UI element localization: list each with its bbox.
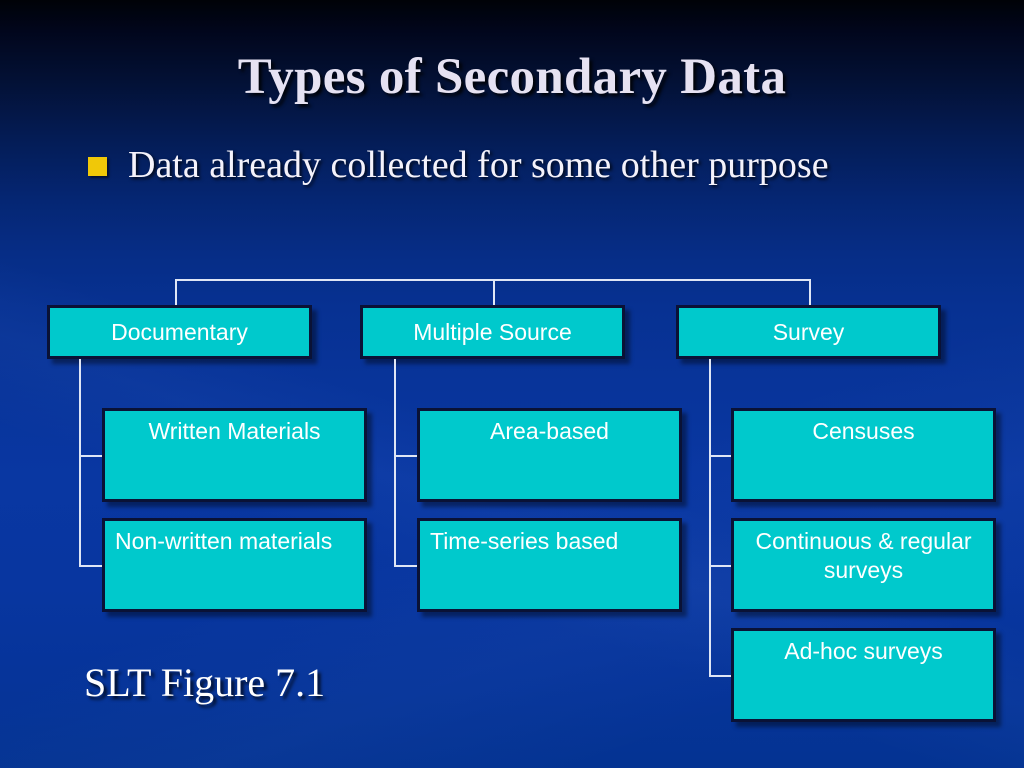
connector-stub-written-materials xyxy=(79,455,103,457)
connector-stub-time-series-based xyxy=(394,565,418,567)
node-continuous-regular-surveys-label: Continuous & regular surveys xyxy=(734,521,993,584)
connector-stub-area-based xyxy=(394,455,418,457)
connector-trunk-documentary xyxy=(79,359,81,567)
figure-caption: SLT Figure 7.1 xyxy=(84,659,325,706)
node-censuses-label: Censuses xyxy=(734,411,993,446)
hierarchy-diagram: Documentary Multiple Source Survey Writt… xyxy=(0,0,1024,768)
node-area-based[interactable]: Area-based xyxy=(417,408,682,502)
node-multiple-source[interactable]: Multiple Source xyxy=(360,305,625,359)
node-continuous-regular-surveys[interactable]: Continuous & regular surveys xyxy=(731,518,996,612)
node-survey[interactable]: Survey xyxy=(676,305,941,359)
node-documentary[interactable]: Documentary xyxy=(47,305,312,359)
connector-trunk-survey xyxy=(709,359,711,677)
node-ad-hoc-surveys-label: Ad-hoc surveys xyxy=(734,631,993,666)
connector-stub-censuses xyxy=(709,455,733,457)
node-time-series-based-label: Time-series based xyxy=(420,521,679,556)
node-written-materials-label: Written Materials xyxy=(105,411,364,446)
node-ad-hoc-surveys[interactable]: Ad-hoc surveys xyxy=(731,628,996,722)
node-survey-label: Survey xyxy=(765,318,853,347)
connector-stub-ad-hoc-surveys xyxy=(709,675,733,677)
node-censuses[interactable]: Censuses xyxy=(731,408,996,502)
node-area-based-label: Area-based xyxy=(420,411,679,446)
node-time-series-based[interactable]: Time-series based xyxy=(417,518,682,612)
slide-canvas: Types of Secondary Data Data already col… xyxy=(0,0,1024,768)
node-non-written-materials-label: Non-written materials xyxy=(105,521,364,556)
connector-drop-survey xyxy=(809,279,811,306)
connector-drop-documentary xyxy=(175,279,177,306)
connector-drop-multiple-source xyxy=(493,279,495,306)
connector-stub-non-written-materials xyxy=(79,565,103,567)
node-written-materials[interactable]: Written Materials xyxy=(102,408,367,502)
connector-stub-continuous-regular-surveys xyxy=(709,565,733,567)
node-documentary-label: Documentary xyxy=(103,318,256,347)
node-multiple-source-label: Multiple Source xyxy=(405,318,580,347)
connector-trunk-multiple-source xyxy=(394,359,396,567)
node-non-written-materials[interactable]: Non-written materials xyxy=(102,518,367,612)
